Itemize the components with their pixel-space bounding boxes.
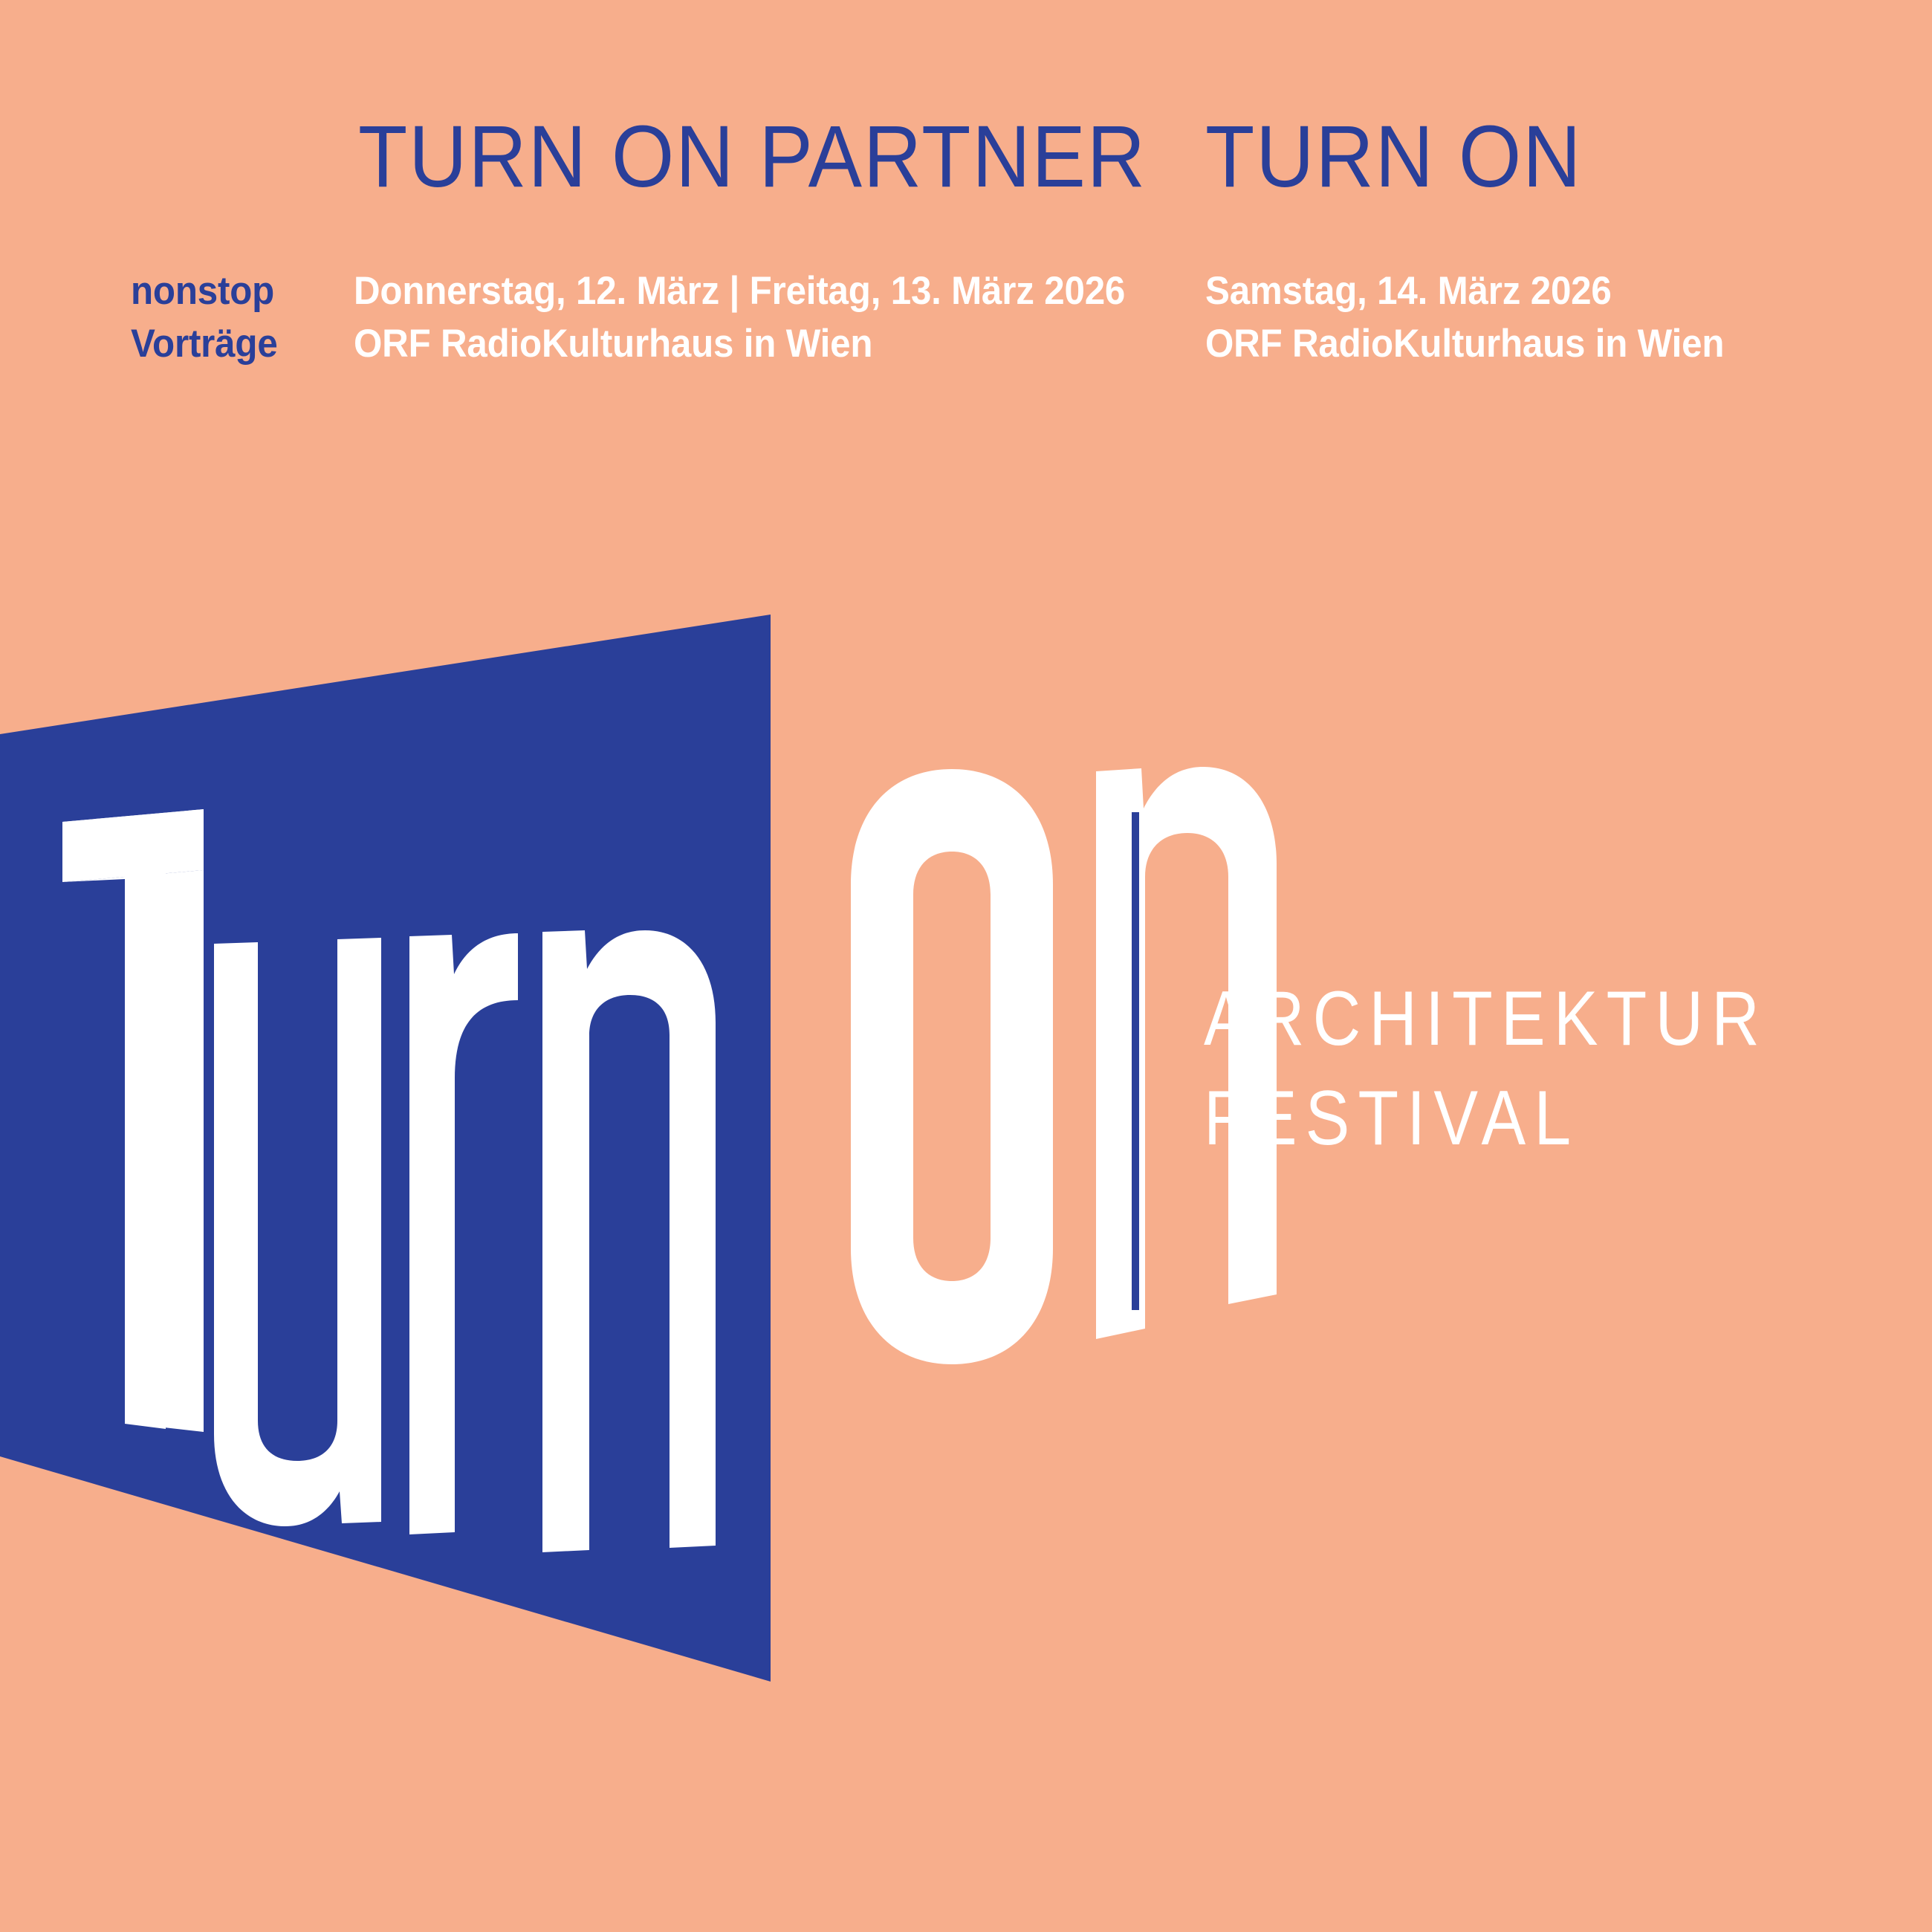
poster-canvas: TURN ON PARTNER TURN ON nonstop Vorträge… — [0, 0, 1932, 1932]
partner-event-details: Donnerstag, 12. März | Freitag, 13. März… — [354, 265, 1183, 370]
turn-on-logo-lockup: ARCHITEKTUR FESTIVAL — [0, 580, 1932, 1709]
headline-turn-on: TURN ON — [1205, 113, 1582, 201]
turnon-event-details: Samstag, 14. März 2026 ORF RadioKulturha… — [1205, 265, 1763, 370]
turnon-venue-line: ORF RadioKulturhaus in Wien — [1205, 317, 1724, 370]
blue-trapezoid-shape — [0, 615, 771, 1682]
subtitle-festival: FESTIVAL — [1204, 1071, 1579, 1166]
tag-line-vortraege: Vorträge — [131, 317, 278, 370]
wordmark-letter-o — [851, 769, 1053, 1364]
partner-venue-line: ORF RadioKulturhaus in Wien — [354, 317, 1125, 370]
logo-divider-rule — [1132, 812, 1139, 1310]
logo-artwork — [0, 580, 1932, 1709]
turnon-date-line: Samstag, 14. März 2026 — [1205, 265, 1724, 317]
tag-line-nonstop: nonstop — [131, 265, 278, 317]
tag-nonstop-vortraege: nonstop Vorträge — [131, 265, 288, 370]
subtitle-architektur: ARCHITEKTUR — [1204, 971, 1768, 1066]
partner-date-line: Donnerstag, 12. März | Freitag, 13. März… — [354, 265, 1125, 317]
headline-turn-on-partner: TURN ON PARTNER — [358, 113, 1147, 201]
